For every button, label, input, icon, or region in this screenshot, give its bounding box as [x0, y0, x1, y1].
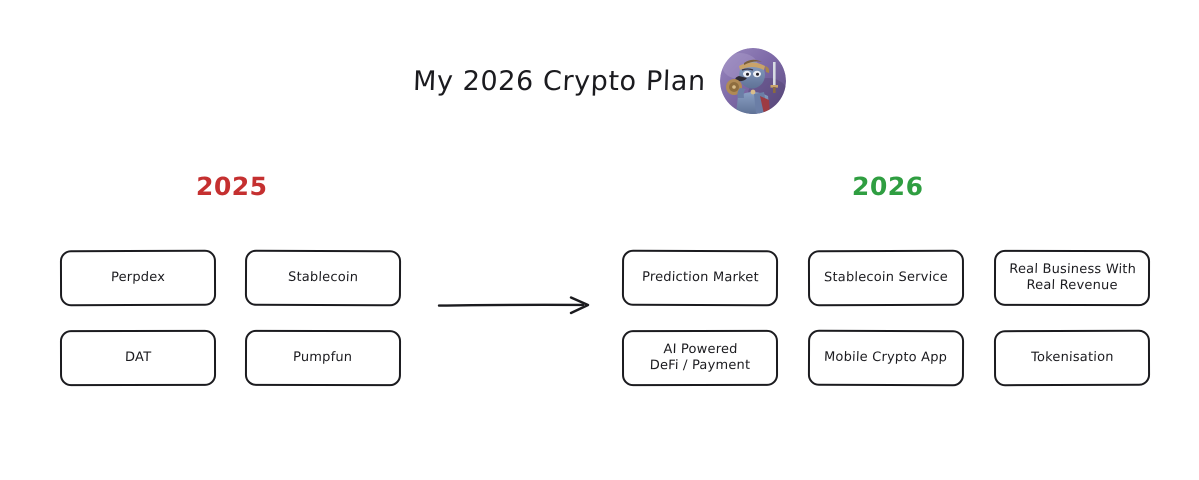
node-perpdex[interactable]: Perpdex [60, 250, 216, 306]
node-label: Tokenisation [1030, 350, 1113, 366]
node-dat[interactable]: DAT [60, 330, 216, 386]
node-label: Stablecoin Service [824, 270, 948, 286]
year-label-2026: 2026 [851, 172, 924, 201]
node-ai-powered-defi-payment[interactable]: AI Powered DeFi / Payment [622, 330, 778, 386]
node-label: Real Business With Real Revenue [1008, 262, 1136, 294]
node-label: Prediction Market [641, 270, 758, 286]
diagram-canvas: My 2026 Crypto Plan [0, 0, 1199, 480]
node-mobile-crypto-app[interactable]: Mobile Crypto App [808, 330, 964, 387]
right-arrow-icon [436, 288, 598, 322]
node-stablecoin[interactable]: Stablecoin [245, 250, 401, 307]
diagram-title-row: My 2026 Crypto Plan [0, 48, 1199, 114]
node-tokenisation[interactable]: Tokenisation [994, 330, 1150, 386]
year-label-2025: 2025 [195, 172, 268, 201]
node-pumpfun[interactable]: Pumpfun [245, 330, 401, 386]
node-real-business-real-revenue[interactable]: Real Business With Real Revenue [994, 250, 1150, 306]
node-label: DAT [125, 350, 152, 366]
node-label: Stablecoin [288, 270, 359, 286]
page-title: My 2026 Crypto Plan [413, 66, 707, 97]
node-stablecoin-service[interactable]: Stablecoin Service [808, 250, 964, 306]
crypto-pfp-avatar [720, 48, 786, 114]
node-label: Perpdex [111, 270, 166, 286]
node-label: AI Powered DeFi / Payment [649, 342, 751, 374]
node-label: Mobile Crypto App [824, 350, 948, 366]
node-label: Pumpfun [293, 350, 353, 366]
node-prediction-market[interactable]: Prediction Market [622, 250, 778, 307]
